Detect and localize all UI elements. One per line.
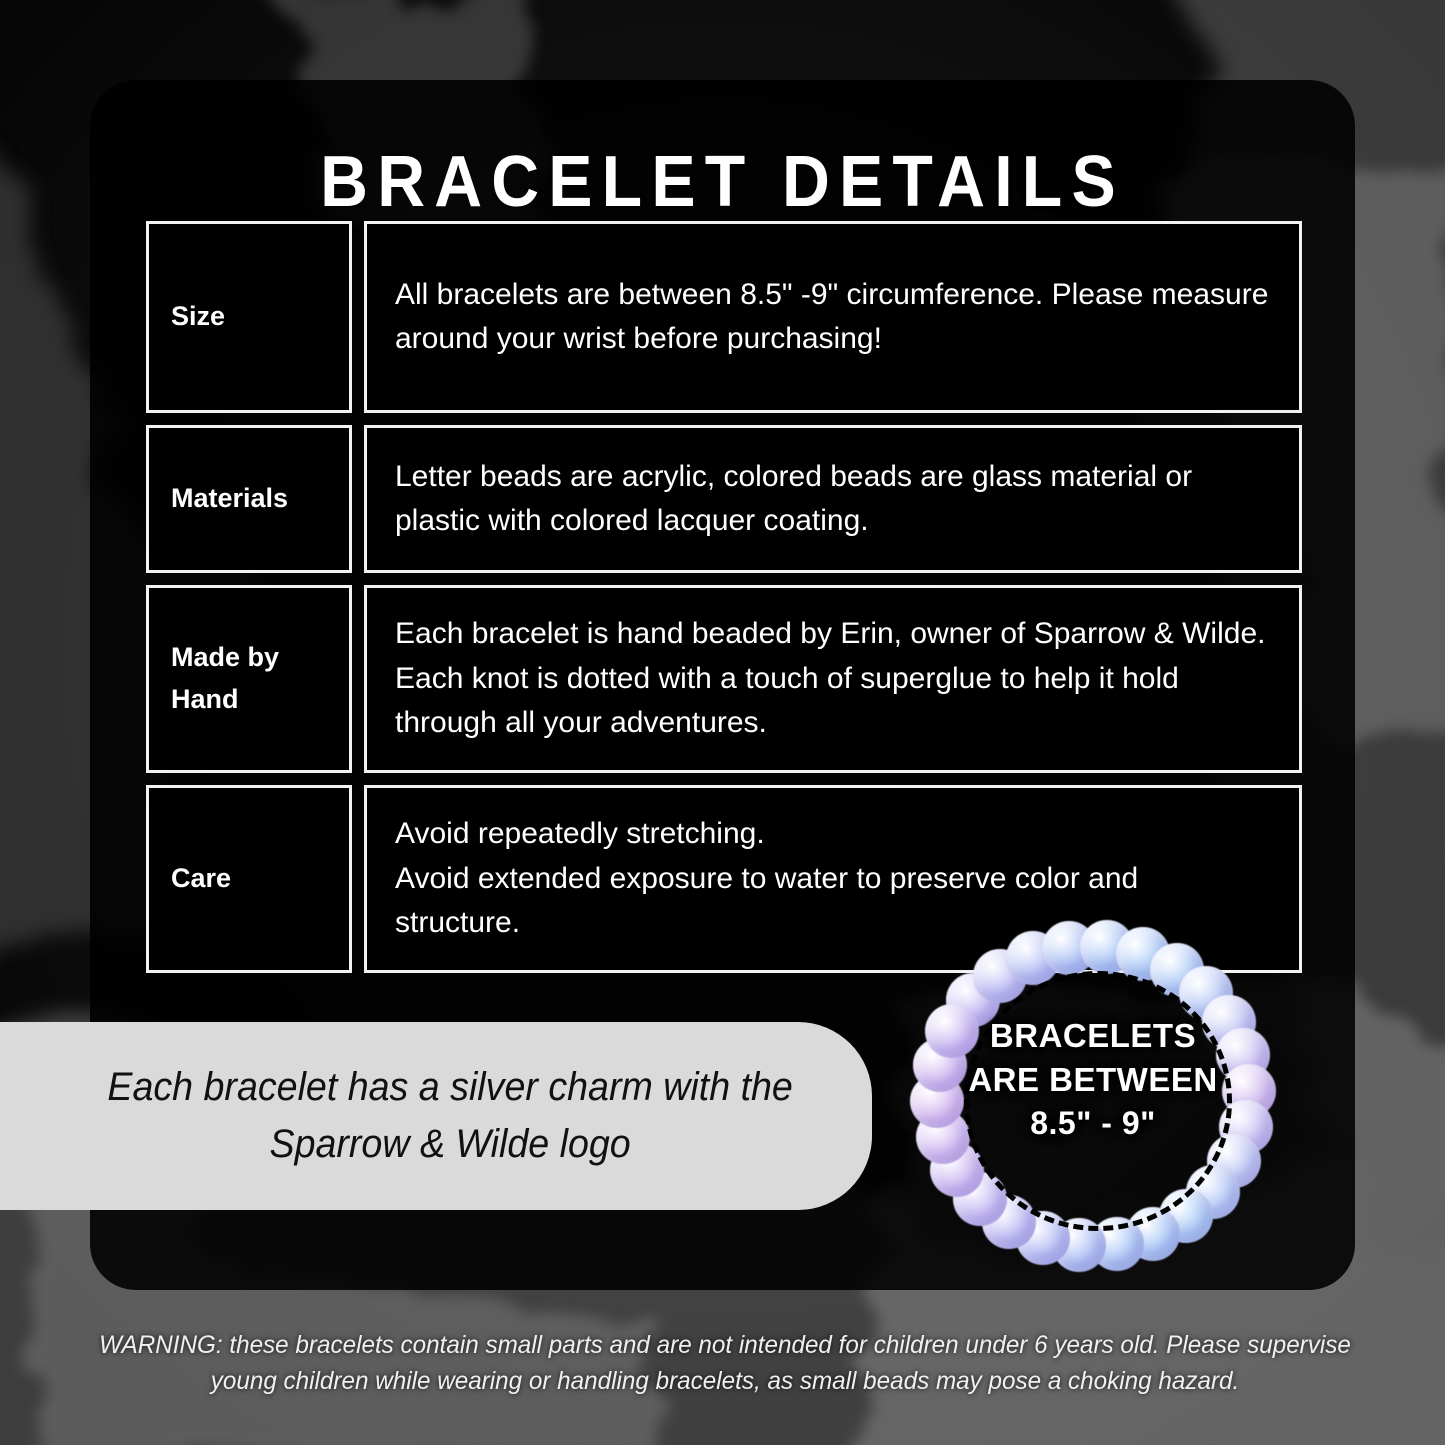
table-row: Made by Hand Each bracelet is hand beade… [146, 585, 1302, 773]
row-body-size: All bracelets are between 8.5" -9" circu… [364, 221, 1302, 413]
row-body-materials: Letter beads are acrylic, colored beads … [364, 425, 1302, 573]
table-row: Materials Letter beads are acrylic, colo… [146, 425, 1302, 573]
badge-line-1: BRACELETS [908, 1014, 1278, 1058]
page-title: BRACELET DETAILS [141, 146, 1305, 218]
badge-line-3: 8.5" - 9" [908, 1102, 1278, 1145]
badge-line-2: ARE BETWEEN [908, 1058, 1278, 1102]
warning-text: WARNING: these bracelets contain small p… [82, 1328, 1368, 1399]
badge-text: BRACELETS ARE BETWEEN 8.5" - 9" [908, 1014, 1278, 1145]
row-label-care: Care [146, 785, 352, 973]
table-row: Size All bracelets are between 8.5" -9" … [146, 221, 1302, 413]
row-label-materials: Materials [146, 425, 352, 573]
row-label-made-by-hand: Made by Hand [146, 585, 352, 773]
bracelet-size-badge: BRACELETS ARE BETWEEN 8.5" - 9" [908, 918, 1278, 1274]
charm-banner: Each bracelet has a silver charm with th… [0, 1022, 872, 1210]
row-label-size: Size [146, 221, 352, 413]
bracelet-details-table: Size All bracelets are between 8.5" -9" … [146, 221, 1302, 973]
charm-banner-text: Each bracelet has a silver charm with th… [26, 1059, 846, 1173]
row-body-made-by-hand: Each bracelet is hand beaded by Erin, ow… [364, 585, 1302, 773]
